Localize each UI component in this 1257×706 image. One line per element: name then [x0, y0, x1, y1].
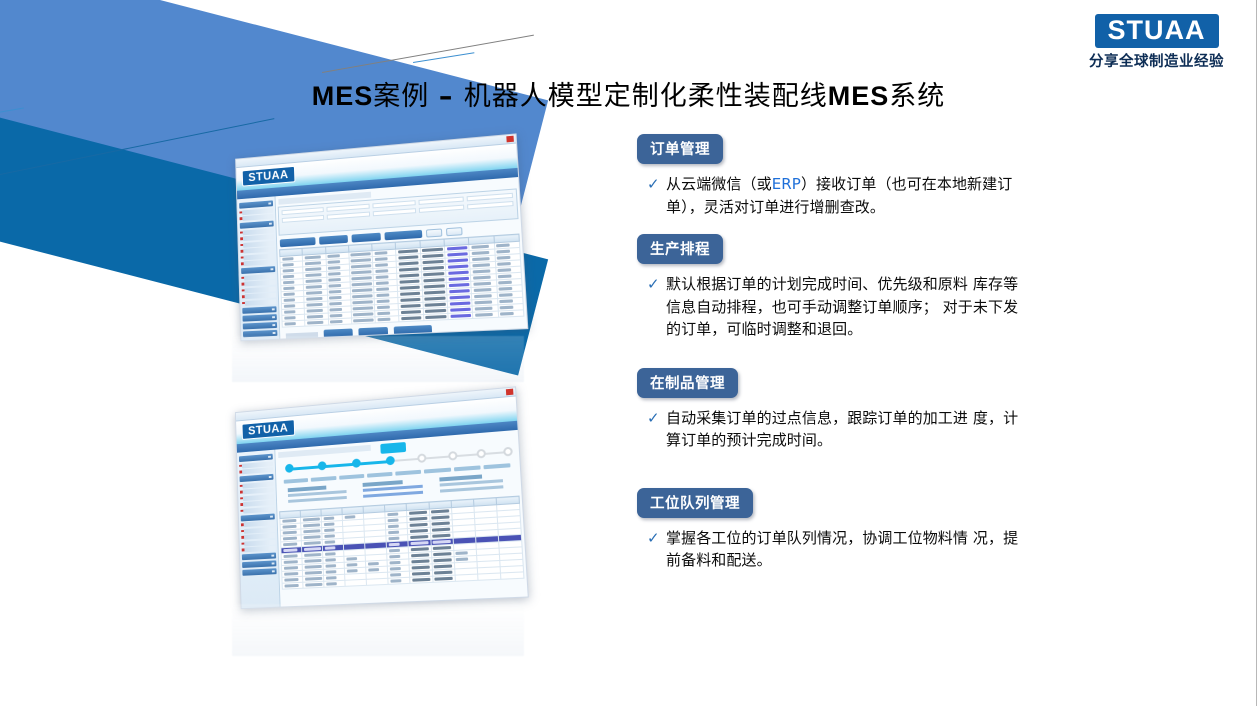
filter-input[interactable] [282, 215, 324, 223]
list-item: ✓ 默认根据订单的计划完成时间、优先级和原料 库存等信息自动排程，也可手动调整订… [647, 273, 1027, 341]
feature-text-highlight: ERP [772, 175, 801, 193]
sidebar-item[interactable] [245, 299, 277, 306]
table-cell [477, 573, 500, 580]
footer-button-close[interactable] [394, 325, 432, 335]
page-title: MES案例 – 机器人模型定制化柔性装配线MES系统 [0, 74, 1257, 113]
list-item: ✓ 掌握各工位的订单队列情况，协调工位物料情 况，提前备料和配送。 [647, 527, 1027, 572]
screenshot-wip-tracking[interactable]: STUAA [235, 386, 529, 609]
sidebar-item[interactable] [245, 293, 277, 300]
check-icon: ✓ [647, 407, 666, 452]
section-badge-wip-management[interactable]: 在制品管理 [637, 368, 738, 398]
sidebar-group-header[interactable] [242, 568, 276, 576]
sidebar-group-header[interactable] [242, 553, 276, 561]
feature-list: 订单管理 ✓ 从云端微信（或ERP）接收订单（也可在本地新建订单），灵活对订单进… [637, 134, 1027, 584]
toolbar-button-dispatch[interactable] [384, 230, 422, 241]
table-cell [388, 577, 410, 584]
flow-node-pending[interactable] [503, 447, 513, 457]
sidebar-group-header[interactable] [241, 266, 275, 274]
list-item: ✓ 自动采集订单的过点信息，跟踪订单的加工进 度，计算订单的预计完成时间。 [647, 407, 1027, 452]
table-cell [500, 572, 524, 579]
title-dash: – [439, 81, 464, 112]
order-table[interactable] [279, 233, 524, 327]
brand-logo-mark: STUAA [1095, 14, 1219, 48]
mock-main-panel [276, 177, 528, 339]
filter-input[interactable] [326, 204, 369, 212]
feature-text-production-scheduling: 默认根据订单的计划完成时间、优先级和原料 库存等信息自动排程，也可手动调整订单顺… [666, 273, 1027, 341]
sidebar-item[interactable] [243, 487, 274, 494]
flow-label [395, 470, 421, 476]
decorative-band-bottom-right-light [769, 664, 1257, 706]
filter-input[interactable] [419, 205, 464, 213]
toolbar-button-query[interactable] [280, 237, 316, 247]
section-badge-station-queue-management[interactable]: 工位队列管理 [637, 488, 753, 518]
toolbar-button-more[interactable] [426, 228, 442, 237]
sidebar-item[interactable] [243, 234, 274, 241]
flow-label [284, 478, 309, 484]
mock-app-logo: STUAA [242, 166, 295, 187]
sidebar-group-header[interactable] [240, 221, 274, 229]
mock-app-logo: STUAA [242, 419, 295, 440]
filter-input[interactable] [282, 207, 324, 215]
close-icon[interactable] [506, 389, 514, 396]
filter-input[interactable] [372, 200, 416, 208]
sidebar-item[interactable] [243, 247, 274, 254]
feature-text-wip-management: 自动采集订单的过点信息，跟踪订单的加工进 度，计算订单的预计完成时间。 [666, 407, 1027, 452]
toolbar-button-add[interactable] [319, 235, 348, 245]
toolbar-button-export[interactable] [446, 227, 463, 236]
close-icon[interactable] [506, 136, 514, 143]
filter-input[interactable] [467, 201, 513, 209]
section-badge-order-management[interactable]: 订单管理 [637, 134, 723, 164]
footer-button-save[interactable] [324, 328, 353, 337]
flow-node-pending[interactable] [418, 453, 427, 463]
slide-canvas: STUAA 分享全球制造业经验 MES案例 – 机器人模型定制化柔性装配线MES… [0, 0, 1257, 706]
sidebar-item[interactable] [243, 506, 274, 513]
table-cell [324, 580, 345, 587]
sidebar-item[interactable] [243, 500, 274, 507]
flow-node-completed[interactable] [318, 461, 327, 470]
detail-line [363, 490, 424, 497]
mock-sidebar[interactable] [237, 196, 280, 340]
flow-tooltip [380, 442, 406, 454]
footer-button-reset[interactable] [358, 327, 388, 336]
feature-text-station-queue-management: 掌握各工位的订单队列情况，协调工位物料情 况，提前备料和配送。 [666, 527, 1027, 572]
flow-node-pending[interactable] [448, 451, 458, 461]
sidebar-group-header[interactable] [242, 314, 276, 322]
check-icon: ✓ [647, 173, 666, 218]
flow-track-completed [287, 460, 392, 470]
mock-sidebar[interactable] [237, 450, 281, 609]
sidebar-group-header[interactable] [242, 306, 276, 314]
flow-label [483, 463, 510, 469]
screenshot-order-management[interactable]: STUAA [235, 133, 528, 341]
screenshot-reflection [232, 604, 524, 656]
sidebar-item[interactable] [244, 533, 275, 540]
detail-line [288, 495, 347, 502]
feature-section-wip-management: 在制品管理 ✓ 自动采集订单的过点信息，跟踪订单的加工进 度，计算订单的预计完成… [637, 368, 1027, 452]
sidebar-item[interactable] [244, 280, 275, 287]
footer-label [286, 332, 318, 338]
sidebar-group-header[interactable] [243, 321, 277, 328]
wip-detail-table[interactable] [279, 496, 524, 590]
flow-label [311, 476, 336, 482]
flow-node-pending[interactable] [476, 449, 486, 459]
mock-app-body [237, 430, 528, 608]
flow-node-completed[interactable] [351, 458, 360, 467]
feature-section-production-scheduling: 生产排程 ✓ 默认根据订单的计划完成时间、优先级和原料 库存等信息自动排程，也可… [637, 234, 1027, 341]
flow-label [339, 474, 364, 480]
table-cell [367, 578, 389, 585]
flow-node-completed[interactable] [285, 464, 294, 473]
sidebar-group-header[interactable] [242, 560, 276, 568]
title-part-en-1: MES [312, 81, 374, 111]
flow-label [367, 472, 393, 478]
feature-text-order-management: 从云端微信（或ERP）接收订单（也可在本地新建订单），灵活对订单进行增删查改。 [666, 173, 1027, 218]
detail-column [440, 472, 511, 494]
filter-input[interactable] [327, 212, 370, 220]
filter-input[interactable] [372, 208, 416, 216]
title-part-cn-2: 机器人模型定制化柔性装配线 [464, 81, 828, 112]
brand-tagline: 分享全球制造业经验 [1089, 50, 1224, 71]
mock-app-body [237, 177, 527, 340]
filter-input[interactable] [467, 193, 513, 202]
check-icon: ✓ [647, 527, 666, 572]
check-icon: ✓ [647, 273, 666, 341]
flow-node-current[interactable] [385, 456, 394, 466]
detail-column [288, 484, 354, 505]
table-cell [410, 576, 432, 583]
sidebar-group-header[interactable] [243, 329, 277, 336]
brand-logo: STUAA 分享全球制造业经验 [1089, 14, 1224, 71]
toolbar-button-edit[interactable] [351, 233, 380, 243]
feature-text-part-1: 从云端微信（或 [666, 175, 772, 193]
table-cell [282, 582, 303, 589]
flow-label [424, 468, 450, 474]
table-cell [432, 575, 455, 582]
feature-section-order-management: 订单管理 ✓ 从云端微信（或ERP）接收订单（也可在本地新建订单），灵活对订单进… [637, 134, 1027, 218]
section-badge-production-scheduling[interactable]: 生产排程 [637, 234, 723, 264]
table-cell [455, 574, 478, 581]
table-cell [303, 581, 324, 588]
detail-column [362, 478, 430, 500]
title-part-cn-3: 系统 [889, 81, 945, 112]
sidebar-item[interactable] [244, 520, 275, 527]
filter-input[interactable] [419, 197, 464, 205]
sidebar-item[interactable] [244, 259, 275, 266]
table-cell [345, 579, 367, 586]
mock-main-panel [275, 430, 527, 607]
flow-label [453, 465, 480, 471]
title-part-cn-1: 案例 [373, 81, 439, 112]
list-item: ✓ 从云端微信（或ERP）接收订单（也可在本地新建订单），灵活对订单进行增删查改… [647, 173, 1027, 218]
feature-section-station-queue-management: 工位队列管理 ✓ 掌握各工位的订单队列情况，协调工位物料情 况，提前备料和配送。 [637, 488, 1027, 572]
title-part-en-2: MES [828, 81, 890, 111]
sidebar-item[interactable] [244, 546, 275, 553]
